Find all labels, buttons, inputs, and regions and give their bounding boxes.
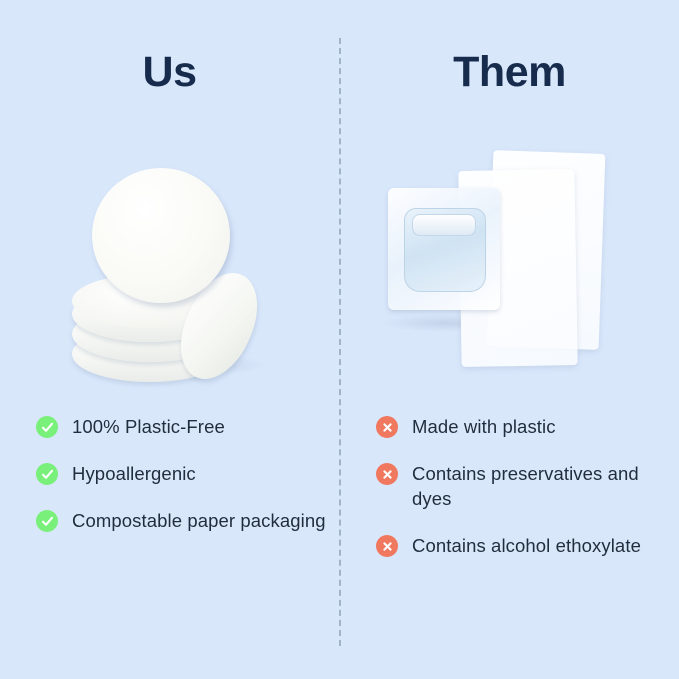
list-item: Made with plastic xyxy=(376,414,678,439)
cross-icon xyxy=(376,416,398,438)
cross-icon xyxy=(376,535,398,557)
comparison-graphic: Us 100% Plastic-Free xyxy=(0,0,679,679)
column-title-us: Us xyxy=(0,48,339,97)
tablet-front-large xyxy=(92,168,230,303)
list-item-label: Contains preservatives and dyes xyxy=(412,461,678,511)
check-icon xyxy=(36,510,58,532)
list-item: Hypoallergenic xyxy=(36,461,336,486)
list-item-label: Made with plastic xyxy=(412,414,556,439)
list-item-label: 100% Plastic-Free xyxy=(72,414,225,439)
check-icon xyxy=(36,463,58,485)
list-item: Contains preservatives and dyes xyxy=(376,461,678,511)
drawback-list-them: Made with plastic Contains preservatives… xyxy=(376,414,678,580)
list-item: Compostable paper packaging xyxy=(36,508,336,533)
tablet-stack-illustration xyxy=(0,130,339,395)
wipes-and-sachet-illustration xyxy=(340,130,679,395)
sachet-lid xyxy=(412,214,476,236)
list-item-label: Compostable paper packaging xyxy=(72,508,326,533)
column-them: Them Made with plastic xyxy=(340,0,679,679)
benefit-list-us: 100% Plastic-Free Hypoallergenic Compost… xyxy=(36,414,336,555)
column-us: Us 100% Plastic-Free xyxy=(0,0,339,679)
plastic-sachet xyxy=(388,188,500,310)
list-item: Contains alcohol ethoxylate xyxy=(376,533,678,558)
list-item-label: Contains alcohol ethoxylate xyxy=(412,533,641,558)
list-item: 100% Plastic-Free xyxy=(36,414,336,439)
check-icon xyxy=(36,416,58,438)
column-title-them: Them xyxy=(340,48,679,97)
list-item-label: Hypoallergenic xyxy=(72,461,196,486)
cross-icon xyxy=(376,463,398,485)
